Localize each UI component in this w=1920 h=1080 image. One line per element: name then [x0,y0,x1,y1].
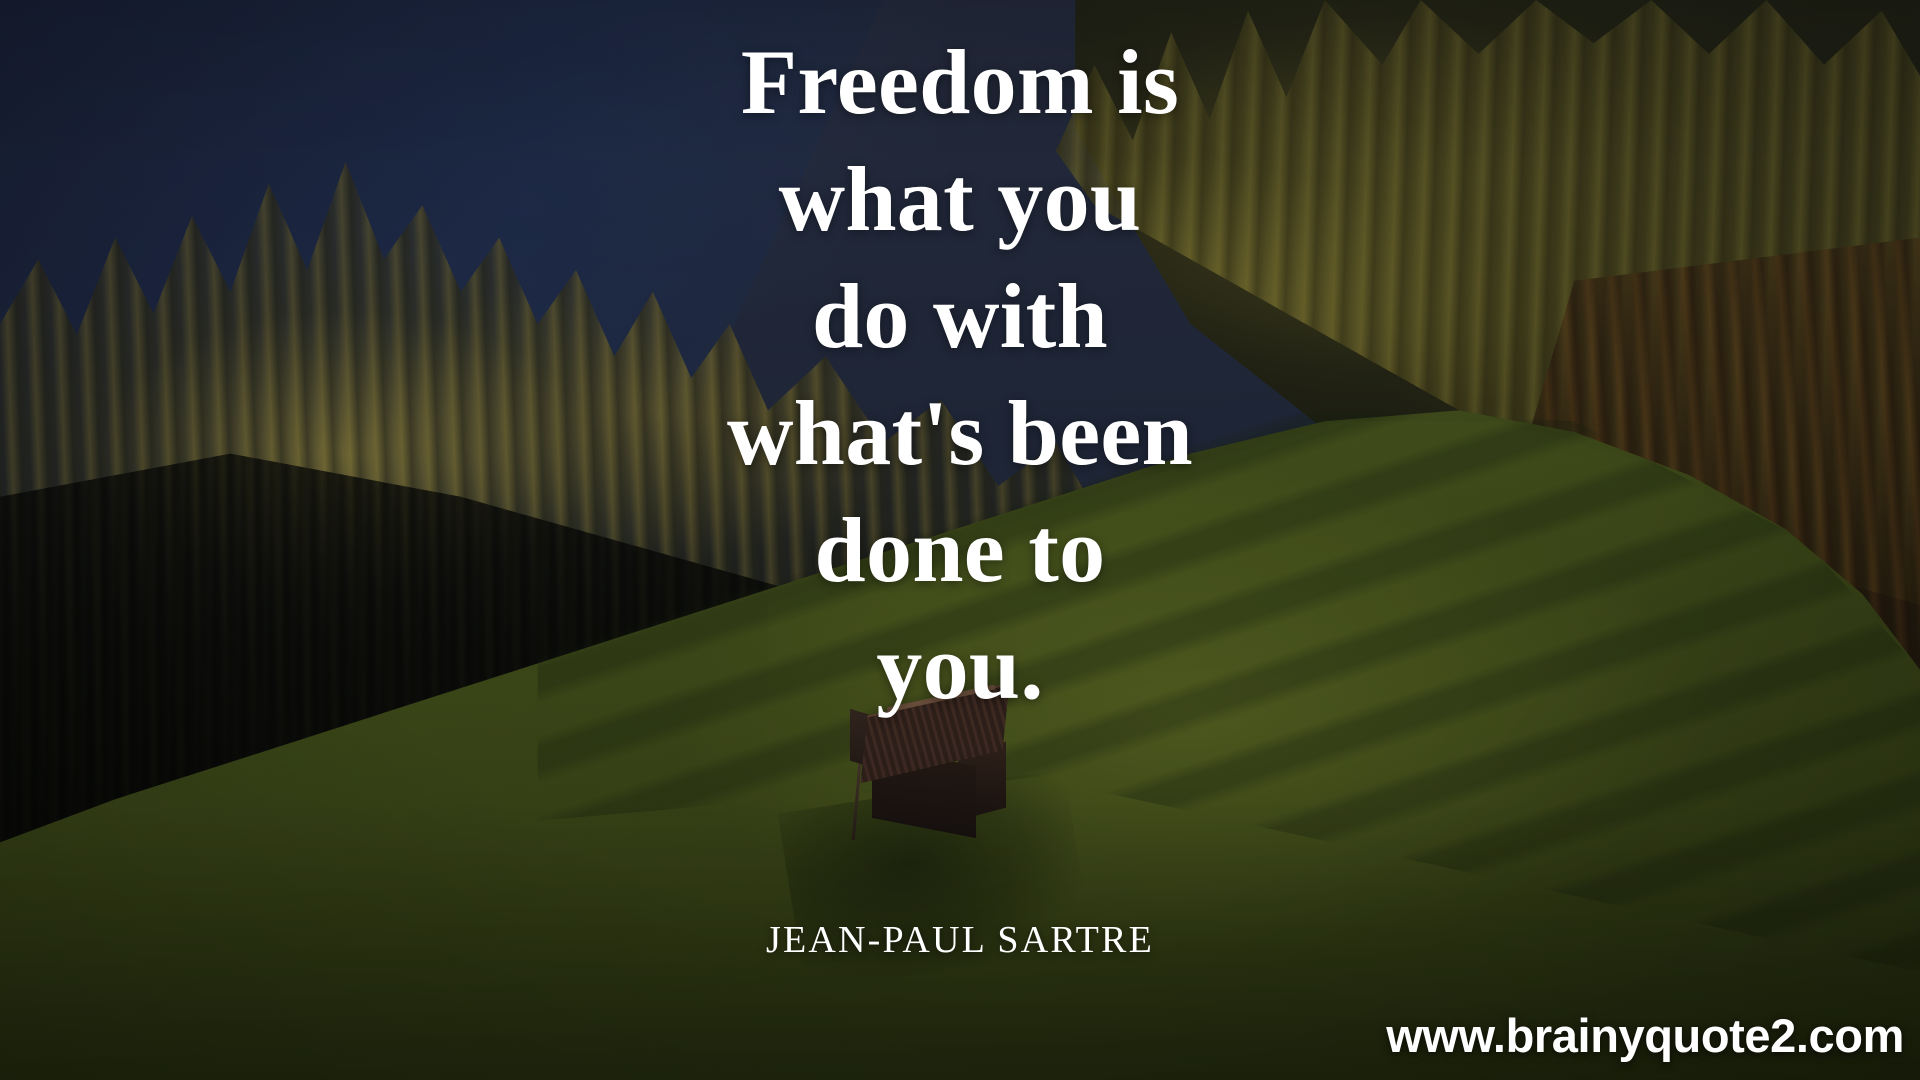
quote-author: JEAN-PAUL SARTRE [0,918,1920,962]
quote-poster: Freedom is what you do with what's been … [0,0,1920,1080]
site-watermark: www.brainyquote2.com [1386,1008,1904,1063]
